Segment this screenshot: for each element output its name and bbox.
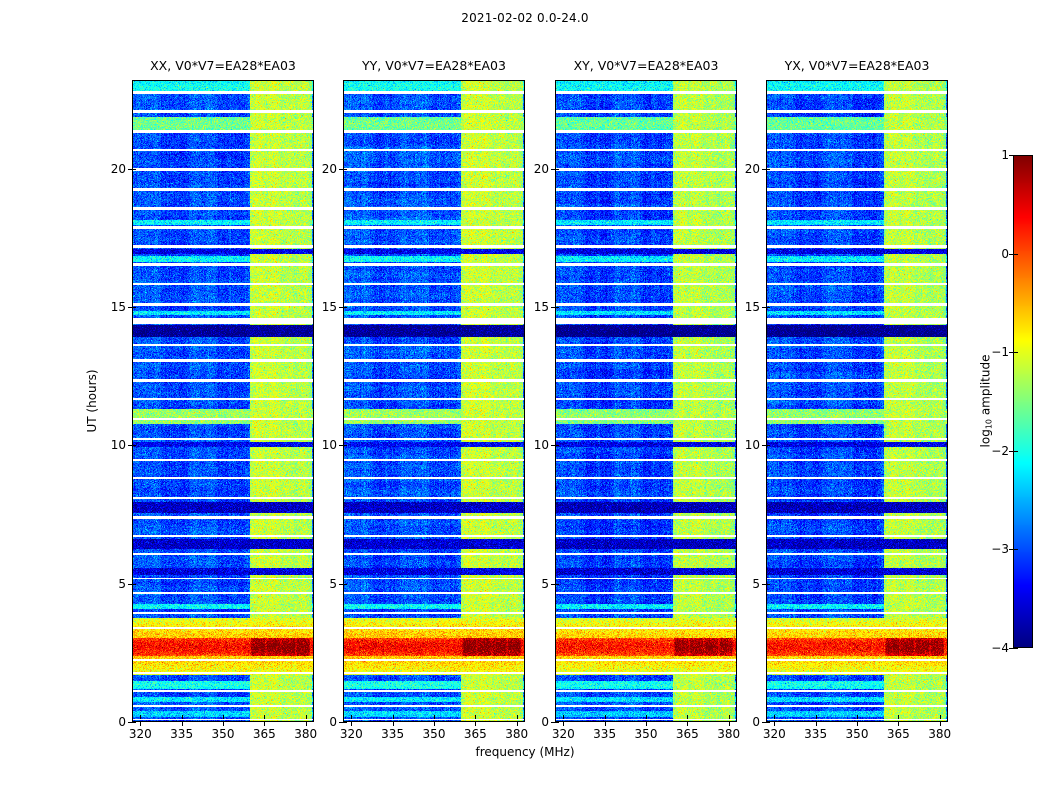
x-tick-mark xyxy=(223,715,224,719)
y-tick-mark xyxy=(766,169,770,170)
colorbar-tick-label: −4 xyxy=(991,641,1009,655)
colorbar-tick-label: −3 xyxy=(991,542,1009,556)
x-tick-mark xyxy=(351,722,352,726)
y-tick-label: 5 xyxy=(329,577,337,591)
x-tick-mark xyxy=(898,722,899,726)
x-tick-mark xyxy=(223,722,224,726)
x-tick-mark xyxy=(434,722,435,726)
y-axis-label: UT (hours) xyxy=(85,369,99,432)
x-tick-mark xyxy=(940,715,941,719)
colorbar-tick-mark xyxy=(1013,352,1018,353)
x-tick-mark xyxy=(563,722,564,726)
panel-xx[interactable]: XX, V0*V7=EA28*EA03 320335350365380 0510… xyxy=(132,80,314,722)
y-tick-mark xyxy=(766,307,770,308)
panel-title-yx: YX, V0*V7=EA28*EA03 xyxy=(785,58,930,73)
y-tick-mark xyxy=(555,169,559,170)
colorbar-tick-label: −2 xyxy=(991,444,1009,458)
y-tick-mark xyxy=(766,584,770,585)
colorbar-tick-mark xyxy=(1013,155,1018,156)
y-tick-label: 15 xyxy=(534,300,549,314)
y-tick-mark xyxy=(555,445,559,446)
x-tick-mark xyxy=(898,715,899,719)
panel-yx[interactable]: YX, V0*V7=EA28*EA03 320335350365380 0510… xyxy=(766,80,948,722)
x-tick-mark xyxy=(517,722,518,726)
heatmap-xx xyxy=(132,80,314,722)
colorbar-label-main: log xyxy=(979,429,993,447)
y-tick-label: 10 xyxy=(322,438,337,452)
x-tick-mark xyxy=(729,722,730,726)
y-tick-label: 15 xyxy=(111,300,126,314)
y-tick-label: 0 xyxy=(752,715,760,729)
x-tick-mark xyxy=(857,722,858,726)
y-tick-label: 15 xyxy=(322,300,337,314)
panel-title-xy: XY, V0*V7=EA28*EA03 xyxy=(574,58,719,73)
y-tick-mark xyxy=(766,722,770,723)
x-tick-mark xyxy=(264,722,265,726)
y-tick-mark xyxy=(343,307,347,308)
y-tick-label: 10 xyxy=(111,438,126,452)
y-tick-mark xyxy=(132,722,136,723)
y-tick-label: 5 xyxy=(752,577,760,591)
heatmap-yy xyxy=(343,80,525,722)
x-tick-mark xyxy=(475,722,476,726)
x-tick-mark xyxy=(393,715,394,719)
y-tick-mark xyxy=(343,169,347,170)
y-tick-label: 5 xyxy=(118,577,126,591)
panel-title-xx: XX, V0*V7=EA28*EA03 xyxy=(150,58,296,73)
y-tick-mark xyxy=(555,307,559,308)
panel-title-yy: YY, V0*V7=EA28*EA03 xyxy=(362,58,506,73)
x-tick-mark xyxy=(646,715,647,719)
x-tick-mark xyxy=(140,715,141,719)
y-tick-label: 20 xyxy=(745,162,760,176)
colorbar-tick-mark xyxy=(1013,254,1018,255)
colorbar-tick-mark xyxy=(1013,648,1018,649)
panel-yy[interactable]: YY, V0*V7=EA28*EA03 320335350365380 0510… xyxy=(343,80,525,722)
x-tick-mark xyxy=(605,722,606,726)
y-tick-mark xyxy=(343,722,347,723)
y-tick-label: 0 xyxy=(118,715,126,729)
x-tick-mark xyxy=(857,715,858,719)
colorbar-label-tail: amplitude xyxy=(979,355,993,419)
y-tick-mark xyxy=(766,445,770,446)
x-tick-mark xyxy=(517,715,518,719)
x-tick-mark xyxy=(605,715,606,719)
x-tick-mark xyxy=(774,722,775,726)
colorbar-tick-label: 0 xyxy=(1001,247,1009,261)
x-tick-mark xyxy=(687,722,688,726)
y-tick-label: 0 xyxy=(329,715,337,729)
x-tick-mark xyxy=(182,715,183,719)
y-tick-mark xyxy=(343,445,347,446)
y-tick-mark xyxy=(132,307,136,308)
x-tick-mark xyxy=(264,715,265,719)
y-tick-mark xyxy=(132,584,136,585)
x-tick-mark xyxy=(816,722,817,726)
y-tick-label: 10 xyxy=(745,438,760,452)
x-tick-mark xyxy=(774,715,775,719)
y-tick-label: 0 xyxy=(541,715,549,729)
colorbar-label-sub: 10 xyxy=(985,419,994,429)
x-tick-mark xyxy=(351,715,352,719)
y-tick-mark xyxy=(132,445,136,446)
panel-xy[interactable]: XY, V0*V7=EA28*EA03 320335350365380 0510… xyxy=(555,80,737,722)
colorbar-tick-mark xyxy=(1013,549,1018,550)
colorbar-frame xyxy=(1013,155,1033,648)
colorbar-tick-mark xyxy=(1013,451,1018,452)
y-tick-label: 20 xyxy=(534,162,549,176)
y-tick-label: 10 xyxy=(534,438,549,452)
x-tick-mark xyxy=(434,715,435,719)
y-tick-mark xyxy=(132,169,136,170)
x-tick-mark xyxy=(940,722,941,726)
x-tick-mark xyxy=(646,722,647,726)
x-tick-mark xyxy=(393,722,394,726)
x-axis-label: frequency (MHz) xyxy=(0,745,1050,759)
colorbar-tick-label: 1 xyxy=(1001,148,1009,162)
x-tick-mark xyxy=(687,715,688,719)
heatmap-xy xyxy=(555,80,737,722)
colorbar-label: log10 amplitude xyxy=(979,355,994,448)
heatmap-yx xyxy=(766,80,948,722)
x-tick-mark xyxy=(140,722,141,726)
y-tick-mark xyxy=(555,584,559,585)
x-tick-mark xyxy=(729,715,730,719)
y-tick-label: 5 xyxy=(541,577,549,591)
x-tick-mark xyxy=(475,715,476,719)
x-tick-mark xyxy=(306,715,307,719)
y-tick-mark xyxy=(343,584,347,585)
y-tick-mark xyxy=(555,722,559,723)
figure-suptitle: 2021-02-02 0.0-24.0 xyxy=(0,11,1050,25)
y-tick-label: 15 xyxy=(745,300,760,314)
y-tick-label: 20 xyxy=(111,162,126,176)
x-tick-mark xyxy=(306,722,307,726)
y-tick-label: 20 xyxy=(322,162,337,176)
x-tick-mark xyxy=(182,722,183,726)
figure-canvas: 2021-02-02 0.0-24.0 XX, V0*V7=EA28*EA03 … xyxy=(0,0,1050,800)
x-tick-mark xyxy=(563,715,564,719)
colorbar[interactable]: −4−3−2−101 xyxy=(1013,155,1033,648)
x-tick-mark xyxy=(816,715,817,719)
colorbar-tick-label: −1 xyxy=(991,345,1009,359)
